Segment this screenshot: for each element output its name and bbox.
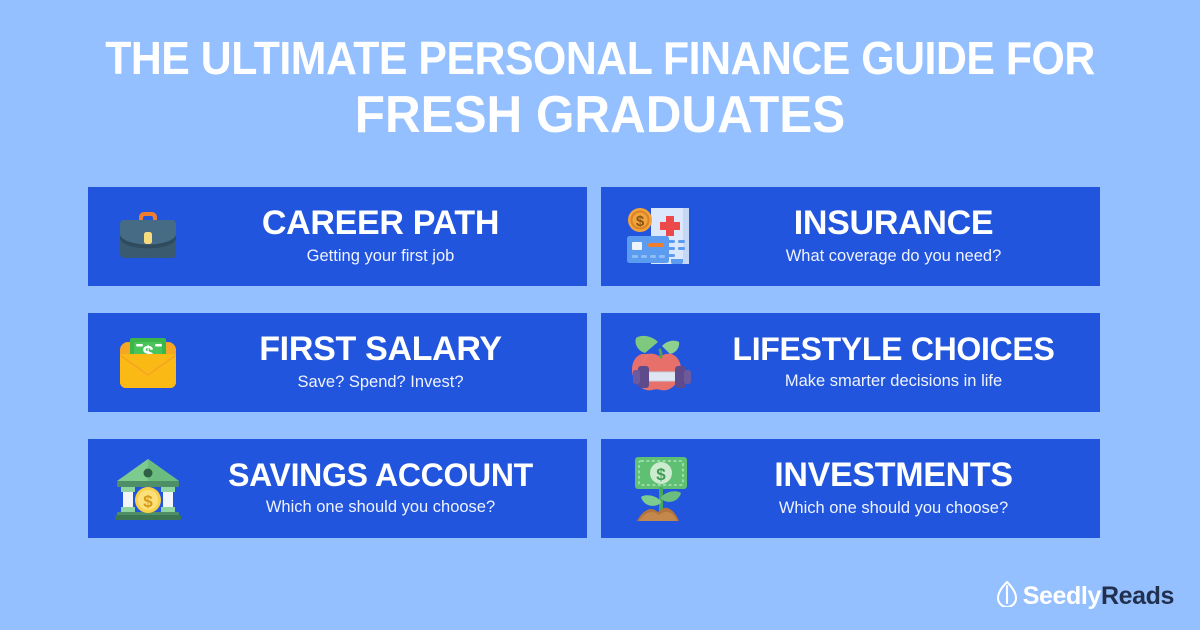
topic-card-career-path[interactable]: CAREER PATH Getting your first job — [88, 187, 587, 286]
card-text-block: FIRST SALARY Save? Spend? Invest? — [194, 332, 573, 392]
card-text-block: INVESTMENTS Which one should you choose? — [707, 458, 1086, 518]
card-subtitle: Which one should you choose? — [266, 498, 495, 518]
topic-card-grid: CAREER PATH Getting your first job $ — [88, 187, 1100, 538]
card-text-block: LIFESTYLE CHOICES Make smarter decisions… — [707, 333, 1086, 391]
topic-card-first-salary[interactable]: $ FIRST SALARY Save? Spend? Invest? — [88, 313, 587, 412]
card-text-block: CAREER PATH Getting your first job — [194, 206, 573, 266]
card-subtitle: Which one should you choose? — [779, 499, 1008, 519]
money-envelope-icon: $ — [102, 325, 194, 401]
money-plant-icon: $ — [615, 451, 707, 527]
card-title: CAREER PATH — [262, 206, 499, 242]
logo-text-secondary: Reads — [1101, 582, 1174, 610]
apple-dumbbell-icon — [615, 325, 707, 401]
card-title: INVESTMENTS — [774, 458, 1013, 494]
svg-text:$: $ — [656, 465, 666, 484]
card-title: SAVINGS ACCOUNT — [228, 459, 533, 493]
card-title: FIRST SALARY — [259, 332, 502, 368]
svg-text:$: $ — [143, 492, 153, 511]
page-header: THE ULTIMATE PERSONAL FINANCE GUIDE FOR … — [0, 0, 1200, 146]
insurance-document-icon: $ — [615, 199, 707, 275]
page-title-line-2: FRESH GRADUATES — [30, 86, 1170, 146]
card-subtitle: Save? Spend? Invest? — [297, 373, 463, 393]
card-subtitle: Getting your first job — [307, 247, 455, 267]
card-title: LIFESTYLE CHOICES — [732, 333, 1054, 367]
seedly-leaf-icon — [996, 580, 1018, 612]
svg-text:$: $ — [636, 213, 645, 230]
card-subtitle: What coverage do you need? — [786, 247, 1002, 267]
card-text-block: INSURANCE What coverage do you need? — [707, 206, 1086, 266]
page-title-line-1: THE ULTIMATE PERSONAL FINANCE GUIDE FOR — [42, 34, 1158, 82]
topic-card-savings-account[interactable]: $ SAVINGS ACCOUNT Which one should you c… — [88, 439, 587, 538]
card-text-block: SAVINGS ACCOUNT Which one should you cho… — [194, 459, 573, 517]
topic-card-lifestyle-choices[interactable]: LIFESTYLE CHOICES Make smarter decisions… — [601, 313, 1100, 412]
topic-card-insurance[interactable]: $ INSURANCE What coverage do you need? — [601, 187, 1100, 286]
seedly-reads-logo[interactable]: SeedlyReads — [996, 580, 1174, 612]
topic-card-investments[interactable]: $ INVESTMENTS Which one should you choos… — [601, 439, 1100, 538]
logo-text-primary: Seedly — [1023, 582, 1101, 610]
card-subtitle: Make smarter decisions in life — [785, 372, 1002, 392]
card-title: INSURANCE — [794, 206, 993, 242]
briefcase-icon — [102, 199, 194, 275]
bank-coin-icon: $ — [102, 451, 194, 527]
